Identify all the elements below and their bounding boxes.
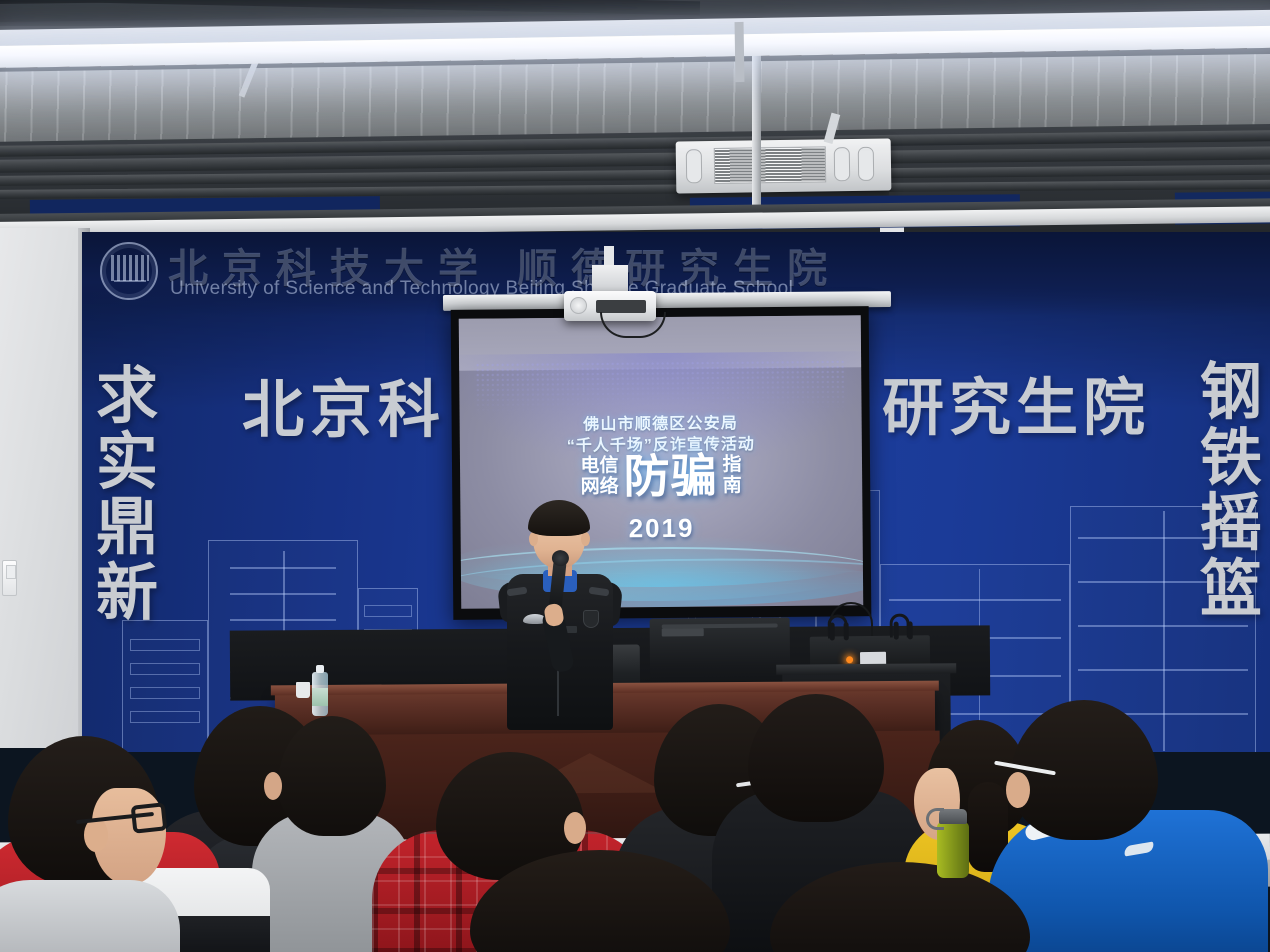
motto-char: 鼎: [96, 495, 158, 561]
motto-char: 铁: [1200, 426, 1262, 492]
audience-ear: [1006, 772, 1030, 808]
slide-title-word: 南: [723, 475, 742, 496]
slide-title-word: 网络: [581, 476, 619, 498]
green-sport-bottle: [937, 822, 969, 878]
wall-motto-left: 求 实 鼎 新: [96, 364, 158, 627]
audience-head: [470, 850, 730, 952]
motto-char: 篮: [1200, 557, 1262, 623]
power-led-indicator: [846, 656, 853, 663]
audience-member: [0, 880, 180, 952]
presenter-hair: [528, 500, 590, 536]
wall-text-left-mid: 北京科: [242, 380, 446, 442]
ceiling-air-conditioner: [676, 139, 892, 194]
motto-char: 钢: [1200, 360, 1262, 426]
audience-member: [470, 850, 730, 952]
uniform-shoulder-patch: [583, 610, 599, 628]
presenter-police-officer: [495, 500, 623, 730]
ceiling-support-column: [752, 34, 761, 224]
monitor-logo: [662, 628, 704, 636]
slide-title-big: 防骗: [623, 453, 717, 500]
ac-grille: [714, 146, 826, 184]
motto-char: 实: [96, 430, 158, 496]
light-switch[interactable]: [2, 560, 17, 596]
paper-cup: [296, 682, 310, 698]
ac-vane: [834, 147, 850, 181]
motto-char: 求: [96, 364, 158, 430]
presenter-ear: [581, 532, 590, 546]
slide-title-left-col: 电信 网络: [580, 455, 618, 498]
slide-title-right-col: 指 南: [722, 454, 741, 497]
antenna-icon: [908, 621, 913, 639]
audience-torso: [0, 880, 180, 952]
left-side-wall: [0, 228, 86, 748]
motto-char: 摇: [1200, 491, 1262, 557]
audience-head: [770, 862, 1030, 952]
audience-head: [278, 716, 386, 836]
audience-ear: [84, 818, 108, 852]
antenna-icon: [894, 622, 899, 640]
bottle-label: [312, 688, 328, 706]
light-fixture-joint: [735, 22, 745, 82]
audience-member: [1000, 700, 1270, 952]
slide-title-word: 指: [722, 454, 741, 475]
antenna-icon: [830, 622, 835, 640]
audience-head: [748, 694, 884, 822]
wall-text-right-mid: 研究生院: [882, 378, 1150, 440]
lecture-hall-photo: 北京科技大学 顺德研究生院 University of Science and …: [0, 0, 1270, 952]
audience-ear: [564, 812, 586, 844]
audience-member: [770, 862, 1030, 952]
ustb-crest-icon: [100, 242, 158, 300]
slide-title-word: 电信: [580, 455, 618, 477]
insulated-air-duct: [0, 54, 1270, 142]
antenna-icon: [844, 622, 849, 640]
bottle-handle: [926, 808, 944, 830]
slide-main-title: 电信 网络 防骗 指 南: [460, 451, 862, 501]
eyeglasses-lens-icon: [131, 802, 168, 833]
cabinet-top: [776, 663, 956, 675]
motto-char: 新: [96, 561, 158, 627]
wall-motto-right: 钢 铁 摇 篮: [1200, 360, 1262, 623]
ceiling: [0, 0, 1270, 232]
ac-vane: [686, 149, 702, 183]
ac-vane: [858, 147, 874, 181]
projector-lens-icon: [570, 297, 587, 314]
